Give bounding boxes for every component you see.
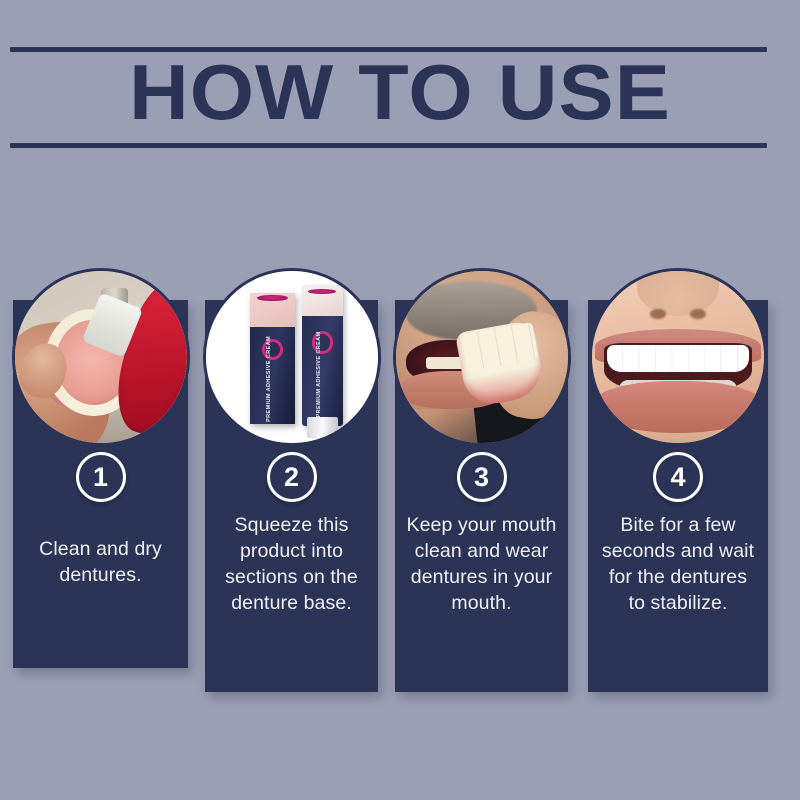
lips-logo-icon <box>257 295 287 301</box>
denture-insertion-illustration <box>396 271 568 443</box>
box-seal-badge <box>262 339 283 360</box>
step-card-1: 1 Clean and dry dentures. <box>13 300 188 668</box>
denture-cleaning-illustration <box>15 271 187 443</box>
step-card-4: 4 Bite for a few seconds and wait for th… <box>588 300 768 692</box>
product-box-top-panel <box>250 293 295 327</box>
how-to-use-infographic: HOW TO USE 1 Clean and dry dentures. <box>0 0 800 800</box>
tube-cap <box>307 417 338 438</box>
smile-result-photo <box>589 268 767 446</box>
product-tube-label: PREMIUM ADHESIVE CREAM <box>315 361 330 417</box>
product-tube: PREMIUM ADHESIVE CREAM <box>302 285 343 426</box>
step-badge-1: 1 <box>76 452 126 502</box>
step-caption-1: Clean and dry dentures. <box>23 536 178 588</box>
step-caption-3: Keep your mouth clean and wear dentures … <box>405 512 558 616</box>
product-package-photo: PREMIUM ADHESIVE CREAM PREMIUM ADHESIVE … <box>203 268 381 446</box>
nostril-right <box>690 309 705 319</box>
smile-illustration <box>592 271 764 443</box>
step-badge-2: 2 <box>267 452 317 502</box>
product-package-illustration: PREMIUM ADHESIVE CREAM PREMIUM ADHESIVE … <box>206 271 378 443</box>
title-rule-bottom <box>10 143 767 148</box>
step-badge-4: 4 <box>653 452 703 502</box>
nose-shape <box>637 268 720 316</box>
step-caption-2: Squeeze this product into sections on th… <box>215 512 368 616</box>
step-caption-4: Bite for a few seconds and wait for the … <box>598 512 758 616</box>
lower-lip-shape <box>592 381 764 433</box>
product-tube-top-panel <box>302 285 343 316</box>
step-card-3: 3 Keep your mouth clean and wear denture… <box>395 300 568 692</box>
product-box-label: PREMIUM ADHESIVE CREAM <box>265 367 280 422</box>
denture-cleaning-photo <box>12 268 190 446</box>
lips-logo-icon <box>308 289 336 294</box>
step-card-2: PREMIUM ADHESIVE CREAM PREMIUM ADHESIVE … <box>205 300 378 692</box>
nostril-left <box>650 309 665 319</box>
upper-teeth-row <box>607 345 749 372</box>
step-badge-3: 3 <box>457 452 507 502</box>
page-title: HOW TO USE <box>0 52 800 132</box>
denture-insertion-photo <box>393 268 571 446</box>
header: HOW TO USE <box>0 0 800 180</box>
steps-row: 1 Clean and dry dentures. PREMIUM ADHESI… <box>0 268 800 688</box>
product-box: PREMIUM ADHESIVE CREAM <box>250 293 295 424</box>
